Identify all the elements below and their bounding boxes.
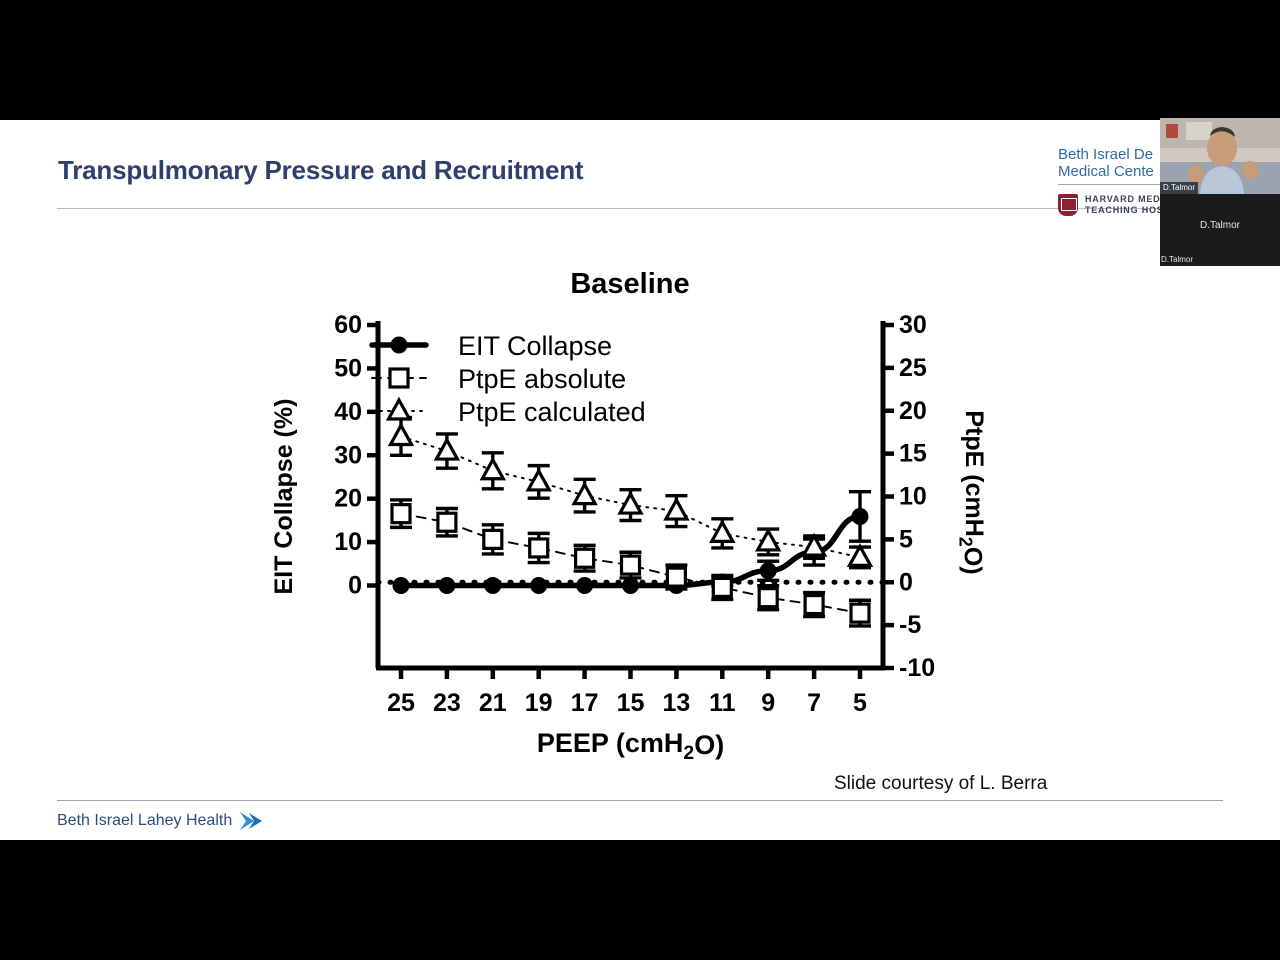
data-point-square <box>667 568 685 586</box>
slide-credit: Slide courtesy of L. Berra <box>834 773 1047 795</box>
bilh-logo: Beth Israel Lahey Health <box>57 810 264 832</box>
harvard-line-1: HARVARD MEDI <box>1085 194 1164 205</box>
baseline-chart: 0102030405060-10-50510152025302523211917… <box>250 250 1010 770</box>
y-axis-left-tick-label: 40 <box>334 398 362 426</box>
data-point-circle <box>530 577 547 594</box>
screen: Transpulmonary Pressure and Recruitment … <box>0 0 1280 960</box>
chart-legend: EIT CollapsePtpE absolutePtpE calculated <box>372 331 646 427</box>
data-point-circle <box>760 562 777 579</box>
x-axis-tick-label: 15 <box>617 689 645 717</box>
data-point-triangle <box>389 400 410 419</box>
chart-title: Baseline <box>250 268 1010 301</box>
data-point-square <box>392 505 410 523</box>
y-axis-left-label: EIT Collapse (%) <box>270 399 298 595</box>
y-axis-right-tick-label: 30 <box>899 311 927 339</box>
data-point-circle <box>393 577 410 594</box>
data-point-triangle <box>850 546 871 565</box>
y-axis-left-tick-label: 10 <box>334 528 362 556</box>
data-point-circle <box>852 508 869 525</box>
legend-item[interactable]: PtpE absolute <box>372 364 626 394</box>
video-tile-camera-label: D.Talmor <box>1160 182 1198 194</box>
x-axis-tick-label: 17 <box>571 689 599 717</box>
legend-label: PtpE calculated <box>458 397 646 427</box>
video-tile-secondary-badge: D.Talmor <box>1161 255 1193 265</box>
x-axis-tick-label: 19 <box>525 689 553 717</box>
y-axis-left-tick-label: 30 <box>334 441 362 469</box>
x-axis-tick-label: 5 <box>853 689 867 717</box>
x-axis-label: PEEP (cmH2O) <box>537 728 724 764</box>
x-axis-tick-label: 13 <box>662 689 690 717</box>
legend-item[interactable]: EIT Collapse <box>372 331 612 361</box>
data-point-triangle <box>712 522 733 541</box>
y-axis-right-tick-label: -10 <box>899 654 935 682</box>
y-axis-right-tick-label: 20 <box>899 397 927 425</box>
presentation-slide: Transpulmonary Pressure and Recruitment … <box>0 120 1280 840</box>
data-point-circle <box>484 577 501 594</box>
y-axis-right-tick-label: 25 <box>899 354 927 382</box>
data-point-square <box>851 604 869 622</box>
video-tile-secondary[interactable]: D.Talmor D.Talmor <box>1160 194 1280 266</box>
data-point-circle <box>391 337 408 354</box>
bilh-logo-text: Beth Israel Lahey Health <box>57 812 232 830</box>
x-axis-tick-label: 25 <box>387 689 415 717</box>
data-point-square <box>390 369 408 387</box>
data-point-triangle <box>391 425 412 444</box>
legend-label: PtpE absolute <box>458 364 626 394</box>
y-axis-right-label: PtpE (cmH2O) <box>956 410 989 574</box>
footer-divider <box>57 800 1223 801</box>
video-tile-camera[interactable]: D.Talmor <box>1160 118 1280 194</box>
data-point-square <box>438 513 456 531</box>
y-axis-left-tick-label: 0 <box>348 572 362 600</box>
data-point-square <box>484 530 502 548</box>
page-title: Transpulmonary Pressure and Recruitment <box>58 155 583 186</box>
y-axis-left-tick-label: 50 <box>334 354 362 382</box>
data-point-square <box>805 596 823 614</box>
series-ptpe-calculated <box>390 418 871 568</box>
y-axis-right-tick-label: -5 <box>899 611 921 639</box>
y-axis-left-tick-label: 20 <box>334 485 362 513</box>
harvard-affiliation-text: HARVARD MEDI TEACHING HOS <box>1085 194 1164 216</box>
data-point-circle <box>438 577 455 594</box>
header-divider <box>57 208 1223 209</box>
video-tile-secondary-label: D.Talmor <box>1160 220 1280 231</box>
chevron-right-icon <box>238 810 264 832</box>
harvard-line-2: TEACHING HOS <box>1085 205 1164 216</box>
data-point-square <box>759 589 777 607</box>
y-axis-right-tick-label: 10 <box>899 483 927 511</box>
x-axis-tick-label: 7 <box>807 689 821 717</box>
data-point-square <box>530 539 548 557</box>
x-axis-tick-label: 23 <box>433 689 461 717</box>
legend-item[interactable]: PtpE calculated <box>372 397 646 427</box>
y-axis-right-tick-label: 15 <box>899 440 927 468</box>
harvard-shield-icon <box>1058 194 1078 216</box>
data-point-triangle <box>482 460 503 479</box>
y-axis-right-tick-label: 5 <box>899 525 913 553</box>
data-point-square <box>622 556 640 574</box>
data-point-square <box>713 578 731 596</box>
chart-container: Baseline 0102030405060-10-50510152025302… <box>250 250 1010 770</box>
x-axis-tick-label: 9 <box>761 689 775 717</box>
x-axis-tick-label: 21 <box>479 689 507 717</box>
y-axis-left-tick-label: 60 <box>334 311 362 339</box>
y-axis-right-tick-label: 0 <box>899 568 913 596</box>
legend-label: EIT Collapse <box>458 331 612 361</box>
x-axis-tick-label: 11 <box>709 689 736 717</box>
data-point-triangle <box>666 500 687 519</box>
data-point-circle <box>576 577 593 594</box>
data-point-square <box>576 549 594 567</box>
